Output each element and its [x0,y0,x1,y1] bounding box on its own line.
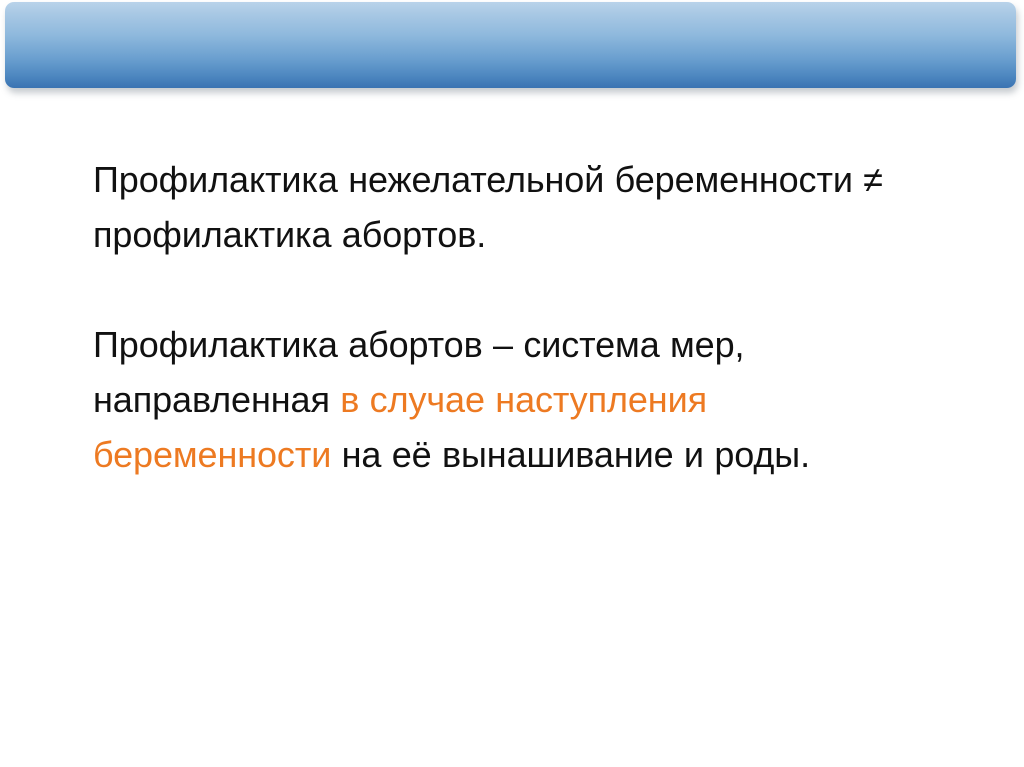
paragraph-definition-contrast: Профилактика нежелательной беременности … [93,152,943,262]
paragraph-2-run-3: на её вынашивание и роды. [331,434,810,475]
paragraph-definition-abortion-prevention: Профилактика абортов – система мер, напр… [93,317,943,482]
slide-body-content: Профилактика нежелательной беременности … [93,152,943,482]
paragraph-1-run-1: Профилактика нежелательной беременности … [93,159,883,255]
slide-title-banner [5,2,1016,88]
slide-title-banner-area [0,0,1024,100]
presentation-slide: Профилактика нежелательной беременности … [0,0,1024,767]
